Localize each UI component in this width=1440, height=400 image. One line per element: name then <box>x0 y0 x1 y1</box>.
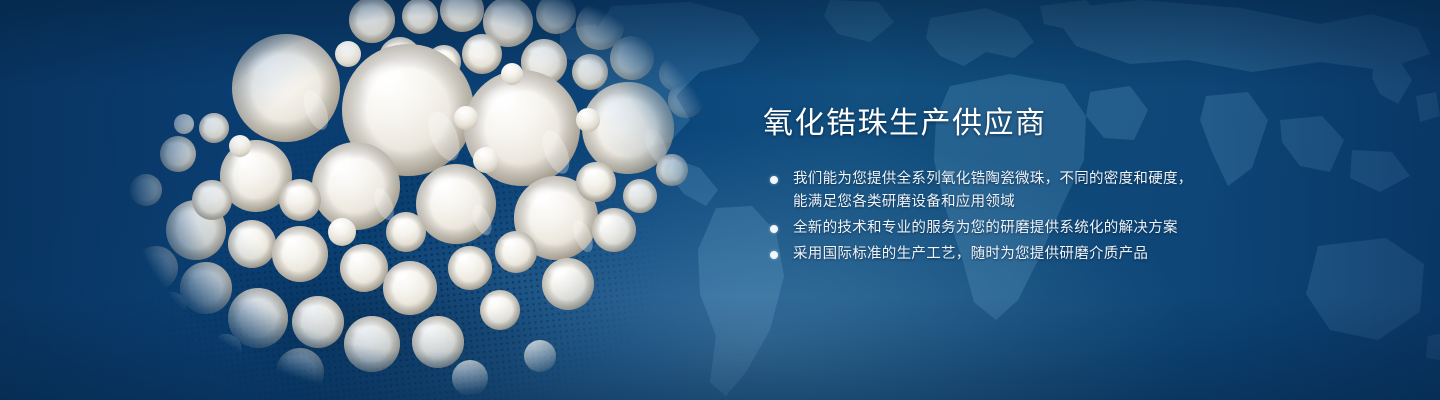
bullet-line: 采用国际标准的生产工艺，随时为您提供研磨介质产品 <box>793 243 1323 266</box>
bullet-line: 全新的技术和专业的服务为您的研磨提供系统化的解决方案 <box>793 217 1323 240</box>
promo-banner: 氧化锆珠生产供应商 我们能为您提供全系列氧化锆陶瓷微珠，不同的密度和硬度， 能满… <box>0 0 1440 400</box>
bullet-dot-icon <box>770 176 778 184</box>
banner-copy: 氧化锆珠生产供应商 我们能为您提供全系列氧化锆陶瓷微珠，不同的密度和硬度， 能满… <box>763 104 1323 266</box>
bullet-dot-icon <box>770 225 778 233</box>
bullet-line: 我们能为您提供全系列氧化锆陶瓷微珠，不同的密度和硬度， <box>793 168 1323 191</box>
list-item: 我们能为您提供全系列氧化锆陶瓷微珠，不同的密度和硬度， 能满足您各类研磨设备和应… <box>763 168 1323 214</box>
list-item: 采用国际标准的生产工艺，随时为您提供研磨介质产品 <box>763 243 1323 266</box>
list-item: 全新的技术和专业的服务为您的研磨提供系统化的解决方案 <box>763 217 1323 240</box>
bullet-line: 能满足您各类研磨设备和应用领域 <box>793 191 1323 214</box>
zirconia-beads-image <box>0 0 760 400</box>
banner-headline: 氧化锆珠生产供应商 <box>763 104 1323 144</box>
banner-bullet-list: 我们能为您提供全系列氧化锆陶瓷微珠，不同的密度和硬度， 能满足您各类研磨设备和应… <box>763 168 1323 266</box>
bullet-dot-icon <box>770 251 778 259</box>
